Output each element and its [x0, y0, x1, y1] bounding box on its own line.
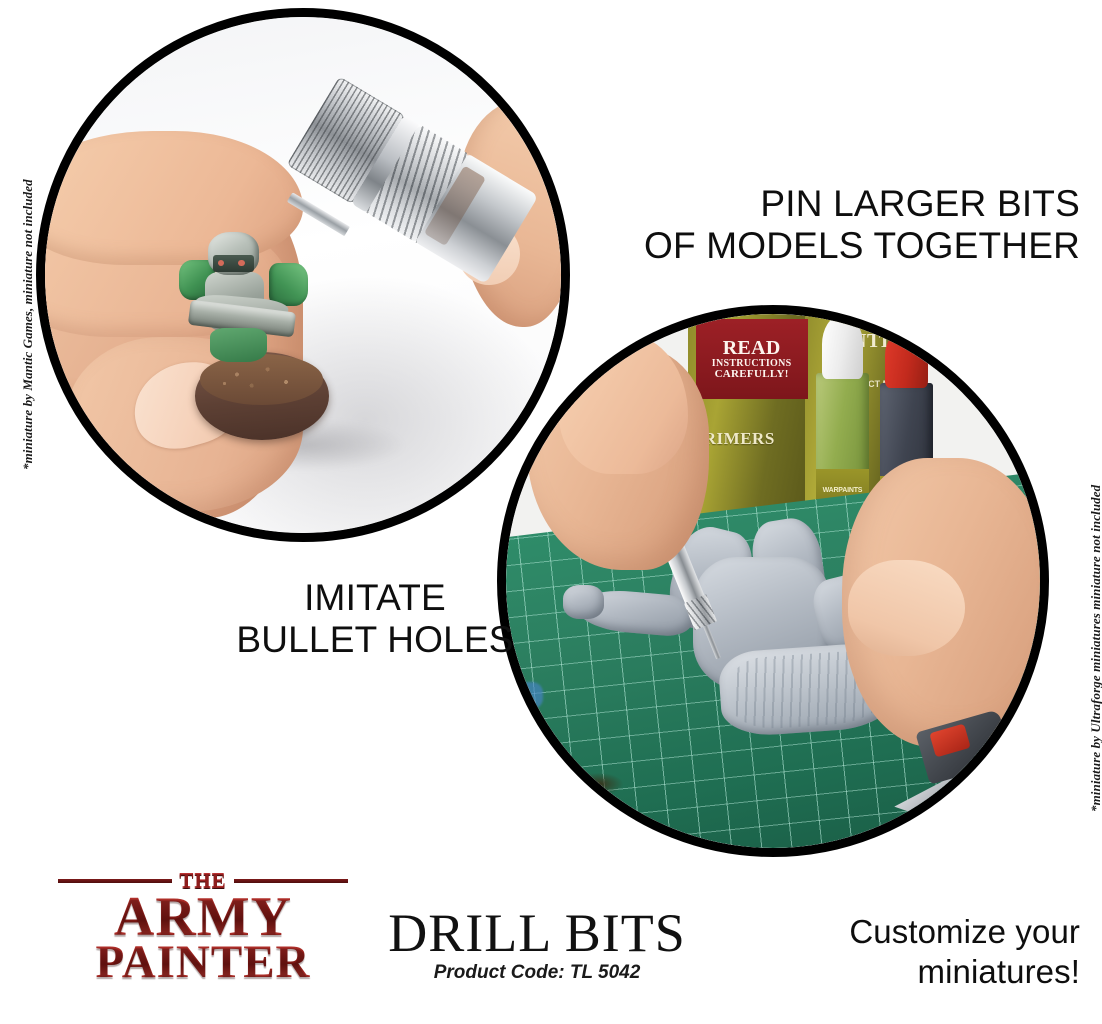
disclaimer-right: *miniature by Ultraforge miniatures mini… [1088, 485, 1102, 812]
resin-hand-left [563, 585, 604, 619]
bottle-cap-white [822, 316, 863, 379]
miniature-legs [210, 328, 267, 362]
miniature-eye-right [238, 260, 244, 266]
miniature-eye-left [218, 260, 224, 266]
headline-imitate-bullet-holes: IMITATE BULLET HOLES [205, 577, 545, 661]
mat-glue-smudge [575, 773, 623, 794]
hand-lower-fingertip [848, 560, 965, 656]
tagline-customize-your-miniatures: Customize your miniatures! [849, 912, 1080, 993]
disclaimer-left: *miniature by Mantic Games, miniature no… [20, 179, 36, 470]
banner-line-3: CAREFULLY! [715, 369, 789, 380]
army-painter-logo: THE ARMY PAINTER [58, 868, 348, 990]
headline-pin-larger-bits: PIN LARGER BITS OF MODELS TOGETHER [644, 183, 1080, 267]
product-code: Product Code: TL 5042 [372, 962, 702, 984]
read-instructions-banner: READ INSTRUCTIONS CAREFULLY! [696, 319, 808, 399]
logo-word-the: THE [172, 871, 233, 892]
product-title: DRILL BITS [372, 906, 702, 960]
photo-left-scene [45, 17, 561, 533]
bottle-cap-red [885, 331, 928, 389]
banner-line-1: READ [723, 338, 781, 358]
photo-circle-pin-larger-bits: READ INSTRUCTIONS CAREFULLY! PRIMERS ANT… [497, 305, 1049, 857]
logo-word-painter: PAINTER [58, 940, 348, 984]
sprue-clipper-tool [891, 720, 1030, 816]
logo-rule-left [58, 879, 172, 883]
logo-the-row: THE [58, 868, 348, 894]
green-marine-miniature [179, 229, 308, 384]
logo-rule-right [234, 879, 348, 883]
miniature-shoulder-right [269, 263, 308, 306]
photo-right-scene: READ INSTRUCTIONS CAREFULLY! PRIMERS ANT… [506, 314, 1040, 848]
hand-upper-finger [559, 335, 687, 474]
mat-blue-speck [517, 682, 544, 709]
photo-circle-imitate-bullet-holes [36, 8, 570, 542]
